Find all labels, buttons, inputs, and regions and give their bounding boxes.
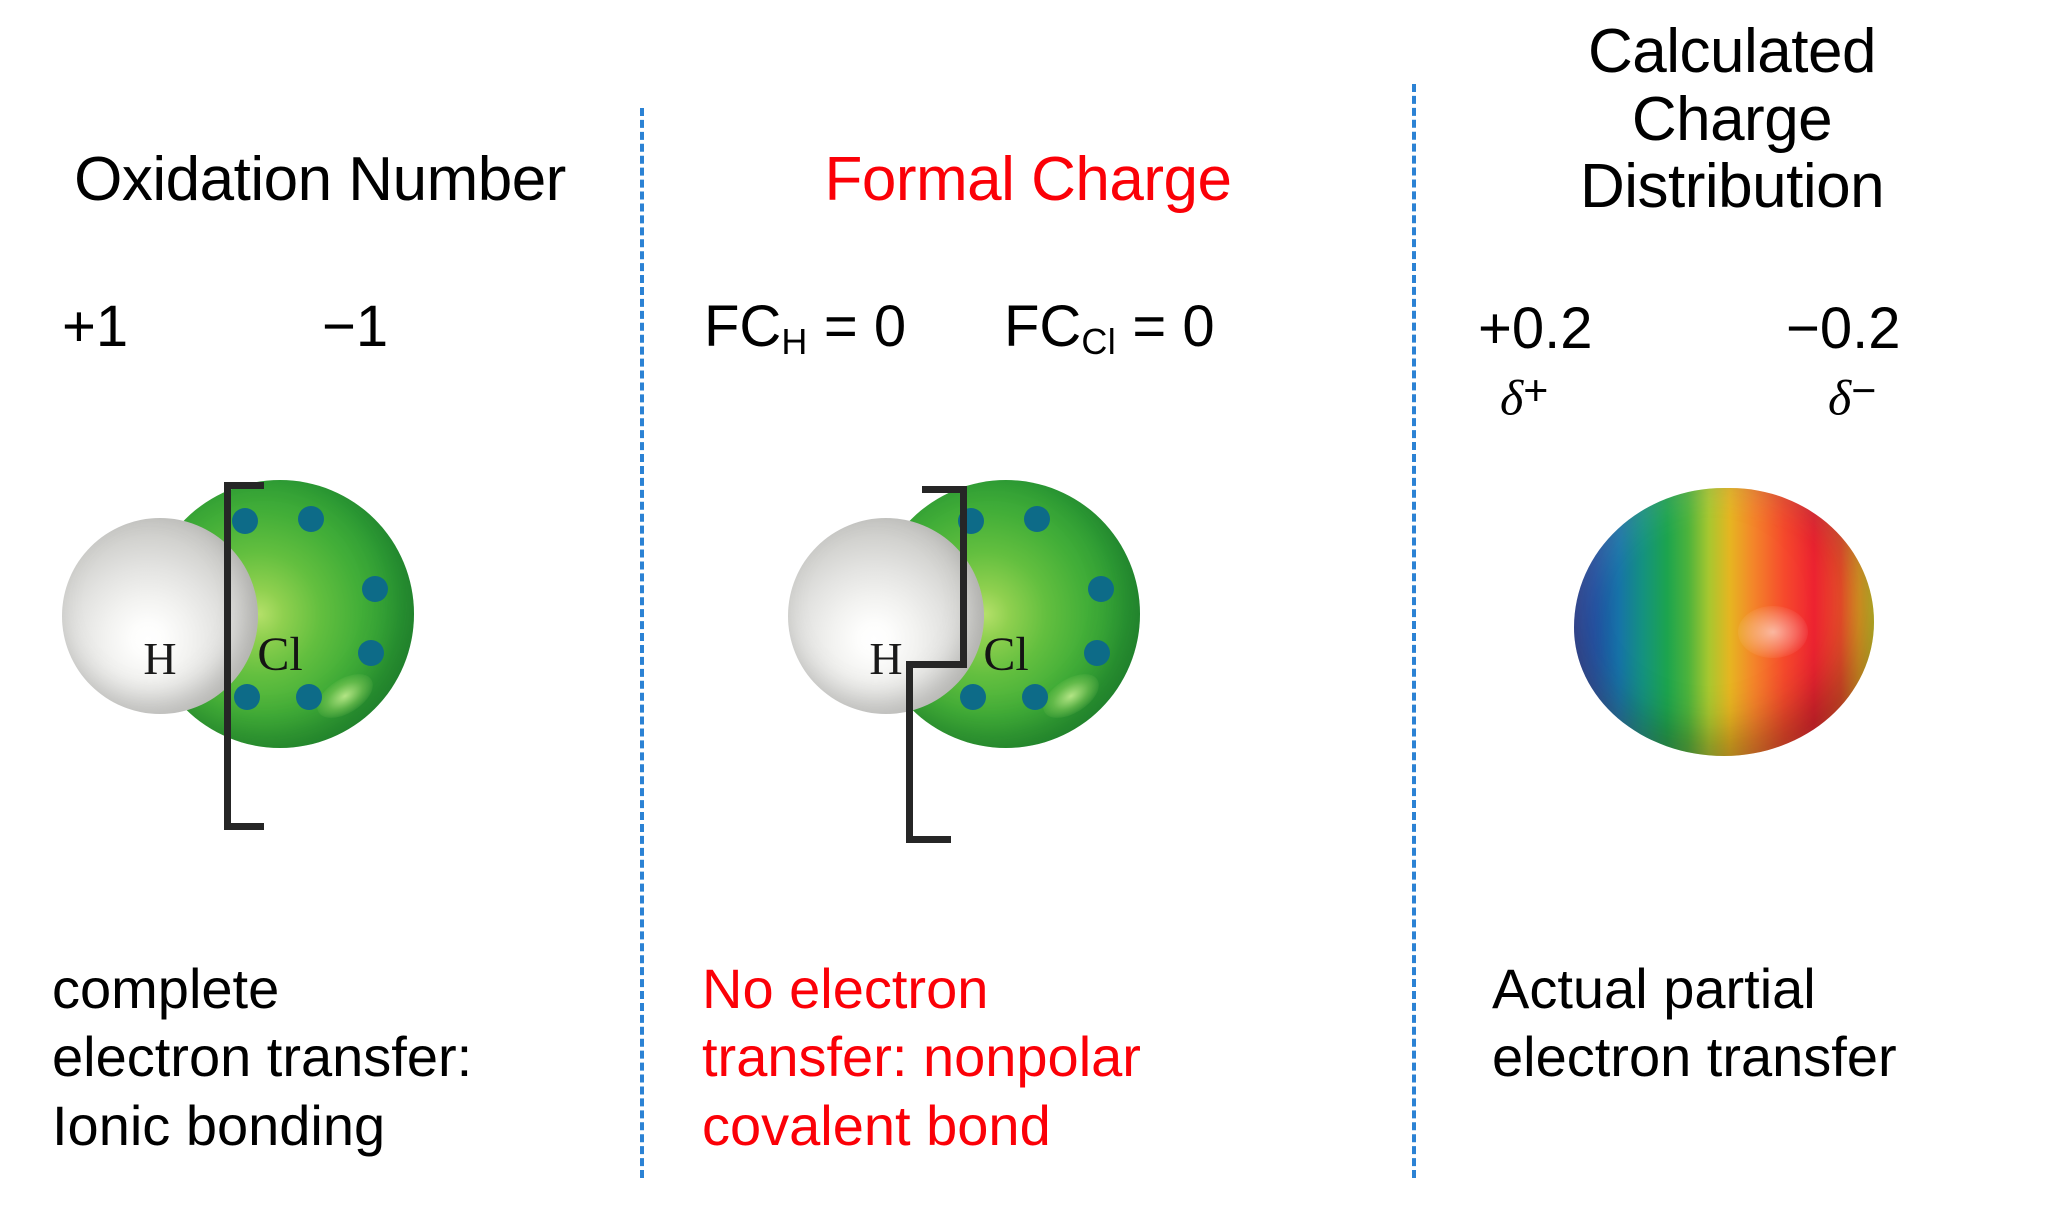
column-2-caption: No electron transfer: nonpolar covalent … — [702, 955, 1402, 1160]
column-oxidation-number: Oxidation Number +1 −1 Cl H — [0, 0, 640, 1219]
formal-charge-h-prefix: FC — [704, 294, 781, 359]
oxidation-number-cl: −1 — [322, 298, 388, 356]
column-1-caption: complete electron transfer: Ionic bondin… — [52, 955, 612, 1160]
figure-root: Oxidation Number +1 −1 Cl H — [0, 0, 2048, 1219]
formal-charge-h-subscript: H — [781, 321, 807, 362]
hydrogen-atom-sphere: H — [788, 518, 984, 714]
covalent-bracket-upper-vertical — [960, 486, 967, 668]
electron-dot — [358, 640, 384, 666]
formal-charge-cl-value: = 0 — [1116, 294, 1214, 359]
hydrogen-atom-label: H — [788, 632, 984, 685]
electron-dot — [298, 506, 324, 532]
column-2-header: Formal Charge — [644, 146, 1412, 214]
electron-dot — [296, 684, 322, 710]
formal-charge-cl-subscript: Cl — [1081, 321, 1116, 362]
partial-charge-positive: +0.2 — [1478, 300, 1593, 358]
formal-charge-h-value: = 0 — [808, 294, 906, 359]
covalent-bracket-bottom-tick — [906, 836, 951, 843]
ionic-bracket-vertical — [224, 482, 231, 830]
electron-dot — [1024, 506, 1050, 532]
covalent-bracket-step — [906, 661, 967, 668]
electron-dot — [234, 684, 260, 710]
electron-dot — [1022, 684, 1048, 710]
electron-dot — [1084, 640, 1110, 666]
ionic-bracket-bottom-tick — [224, 823, 264, 830]
column-1-header: Oxidation Number — [0, 146, 640, 214]
column-calculated-charge-distribution: Calculated Charge Distribution +0.2 −0.2… — [1416, 0, 2048, 1219]
ionic-bracket-top-tick — [224, 482, 264, 489]
formal-charge-h: FCH = 0 — [704, 298, 906, 360]
esp-surface-stage — [1416, 360, 2048, 880]
formal-charge-cl: FCCl = 0 — [1004, 298, 1215, 360]
partial-charge-negative: −0.2 — [1786, 300, 1901, 358]
electron-dot — [1088, 576, 1114, 602]
electron-dot — [960, 684, 986, 710]
covalent-bracket-lower-vertical — [906, 661, 913, 843]
formal-charge-cl-prefix: FC — [1004, 294, 1081, 359]
electron-dot — [232, 508, 258, 534]
column-3-header: Calculated Charge Distribution — [1416, 18, 2048, 221]
covalent-bracket-top-tick — [922, 486, 967, 493]
column-3-caption: Actual partial electron transfer — [1492, 955, 2048, 1092]
hcl-molecule-covalent: Cl H — [644, 360, 1412, 880]
oxidation-number-h: +1 — [62, 298, 128, 356]
electron-dot — [362, 576, 388, 602]
esp-specular-highlight — [1738, 606, 1808, 658]
hcl-molecule-ionic: Cl H — [0, 360, 640, 880]
electrostatic-potential-map — [1574, 488, 1874, 756]
column-formal-charge: Formal Charge FCH = 0 FCCl = 0 Cl H — [644, 0, 1412, 1219]
